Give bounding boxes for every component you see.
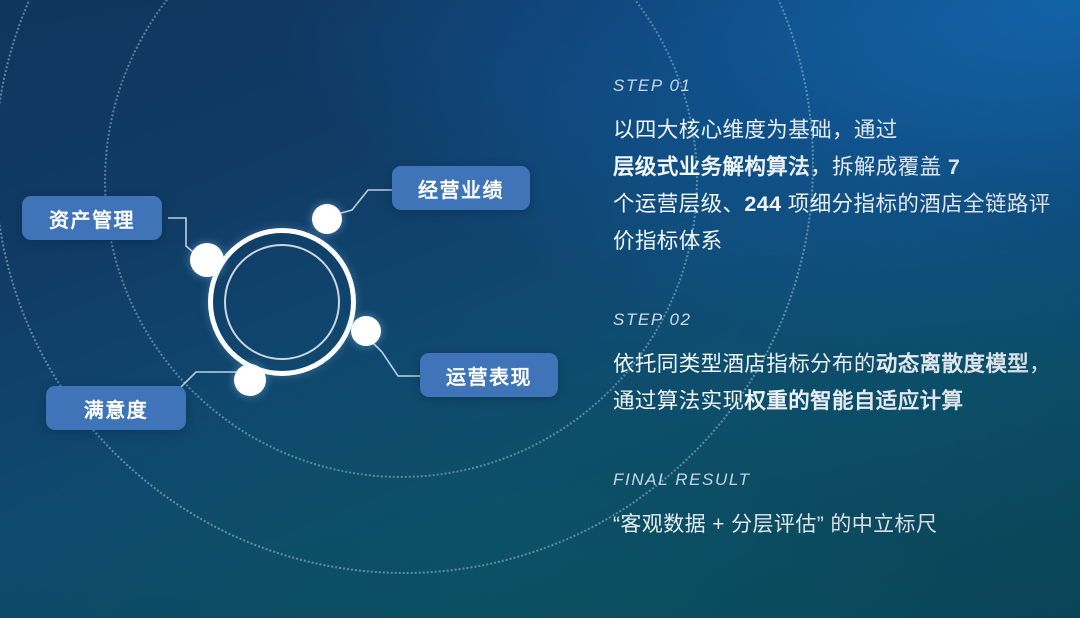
final-result-label: FINAL RESULT	[613, 470, 1065, 490]
label-asset-management[interactable]: 资产管理	[22, 196, 162, 240]
inner-ring	[224, 244, 340, 360]
step-block-01: STEP 01 以四大核心维度为基础，通过层级式业务解构算法，拆解成覆盖 7个运…	[613, 76, 1065, 260]
label-business-performance-text: 经营业绩	[418, 174, 504, 203]
step-02-bold-weight: 权重的智能自适应计算	[744, 389, 963, 413]
text-column: STEP 01 以四大核心维度为基础，通过层级式业务解构算法，拆解成覆盖 7个运…	[613, 76, 1065, 543]
concentric-rings	[208, 228, 356, 376]
step-01-body: 以四大核心维度为基础，通过层级式业务解构算法，拆解成覆盖 7个运营层级、244 …	[613, 112, 1065, 260]
label-satisfaction-text: 满意度	[84, 394, 149, 423]
step-01-bold-244: 244	[744, 192, 781, 216]
final-result-text: “客观数据 + 分层评估” 的中立标尺	[613, 506, 1065, 543]
ring-node-performance	[312, 204, 342, 234]
step-01-line2-pre: 个运营层级、	[613, 192, 744, 216]
final-result-block: FINAL RESULT “客观数据 + 分层评估” 的中立标尺	[613, 470, 1065, 543]
label-operational-performance-text: 运营表现	[446, 361, 532, 390]
slide-canvas: 资产管理 经营业绩 运营表现 满意度 STEP 01 以四大核心维度为基础，通过…	[0, 0, 1080, 618]
step-01-bold-seven: 7	[948, 155, 960, 179]
step-02-label: STEP 02	[613, 310, 1065, 330]
label-operational-performance[interactable]: 运营表现	[420, 353, 558, 397]
label-business-performance[interactable]: 经营业绩	[392, 166, 530, 210]
step-01-label: STEP 01	[613, 76, 1065, 96]
step-02-body: 依托同类型酒店指标分布的动态离散度模型，通过算法实现权重的智能自适应计算	[613, 346, 1065, 420]
step-02-pre: 依托同类型酒店指标分布的	[613, 352, 876, 376]
label-asset-management-text: 资产管理	[49, 204, 135, 233]
step-01-mid: ，拆解成覆盖	[810, 155, 948, 179]
step-block-02: STEP 02 依托同类型酒店指标分布的动态离散度模型，通过算法实现权重的智能自…	[613, 310, 1065, 420]
ring-node-satisfaction	[234, 364, 266, 396]
step-02-bold-model: 动态离散度模型	[876, 352, 1029, 376]
step-01-bold-algorithm: 层级式业务解构算法	[613, 155, 810, 179]
label-satisfaction[interactable]: 满意度	[46, 386, 186, 430]
ring-node-asset	[190, 243, 224, 277]
ring-node-operation	[351, 316, 381, 346]
step-01-line1: 以四大核心维度为基础，通过	[613, 118, 898, 142]
